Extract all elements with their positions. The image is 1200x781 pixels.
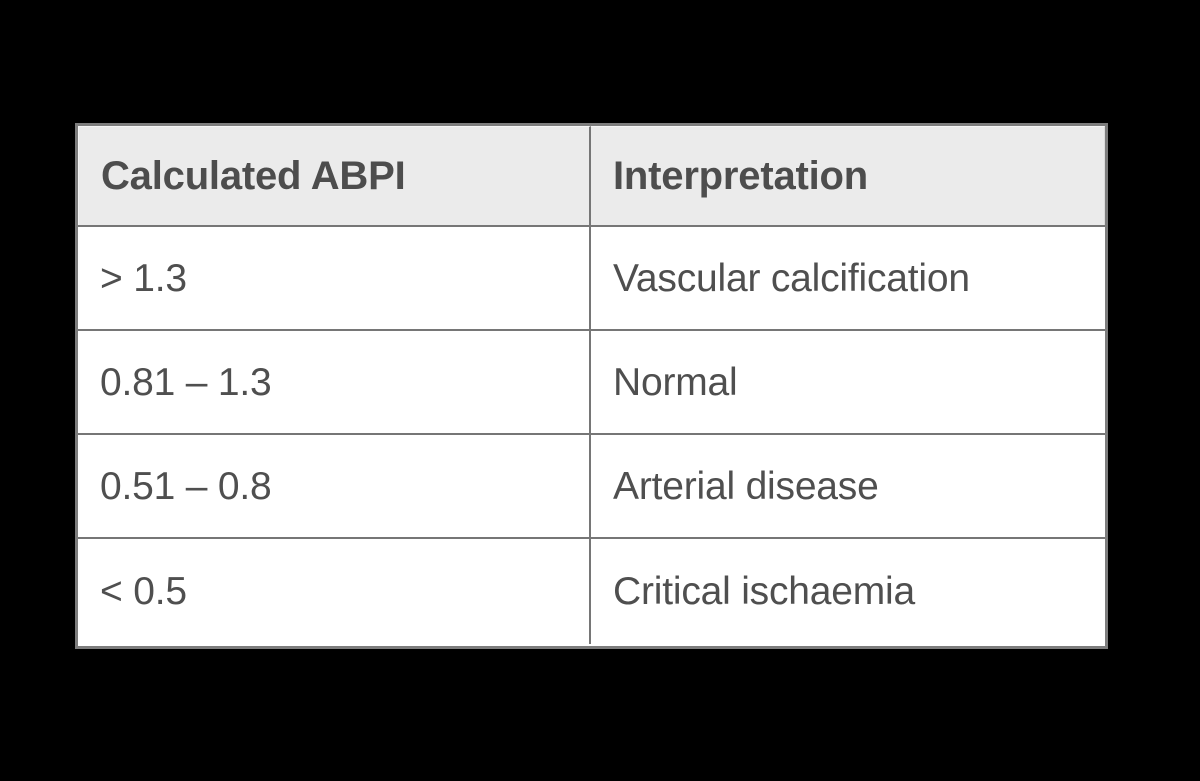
cell-calculated-abpi-value: < 0.5 (100, 572, 187, 611)
column-header-calculated-abpi-label: Calculated ABPI (101, 156, 405, 196)
column-header-interpretation: Interpretation (591, 126, 1105, 225)
cell-calculated-abpi: 0.81 – 1.3 (78, 331, 591, 433)
cell-interpretation-value: Vascular calcification (613, 259, 970, 298)
cell-calculated-abpi-value: 0.51 – 0.8 (100, 467, 271, 506)
table-row: 0.51 – 0.8 Arterial disease (78, 435, 1105, 539)
cell-calculated-abpi: < 0.5 (78, 539, 591, 644)
table-header-row: Calculated ABPI Interpretation (78, 126, 1105, 227)
cell-interpretation: Arterial disease (591, 435, 1105, 537)
cell-interpretation: Critical ischaemia (591, 539, 1105, 644)
table-row: 0.81 – 1.3 Normal (78, 331, 1105, 435)
column-header-interpretation-label: Interpretation (613, 156, 868, 196)
table-row: > 1.3 Vascular calcification (78, 227, 1105, 331)
cell-calculated-abpi: > 1.3 (78, 227, 591, 329)
cell-calculated-abpi-value: 0.81 – 1.3 (100, 363, 271, 402)
column-header-calculated-abpi: Calculated ABPI (78, 126, 591, 225)
cell-interpretation-value: Critical ischaemia (613, 572, 915, 611)
cell-interpretation-value: Normal (613, 363, 737, 402)
cell-interpretation: Vascular calcification (591, 227, 1105, 329)
abpi-interpretation-table: Calculated ABPI Interpretation > 1.3 Vas… (75, 123, 1108, 649)
cell-interpretation-value: Arterial disease (613, 467, 879, 506)
cell-calculated-abpi: 0.51 – 0.8 (78, 435, 591, 537)
cell-interpretation: Normal (591, 331, 1105, 433)
cell-calculated-abpi-value: > 1.3 (100, 259, 187, 298)
page-canvas: Calculated ABPI Interpretation > 1.3 Vas… (0, 0, 1200, 781)
table-row: < 0.5 Critical ischaemia (78, 539, 1105, 644)
